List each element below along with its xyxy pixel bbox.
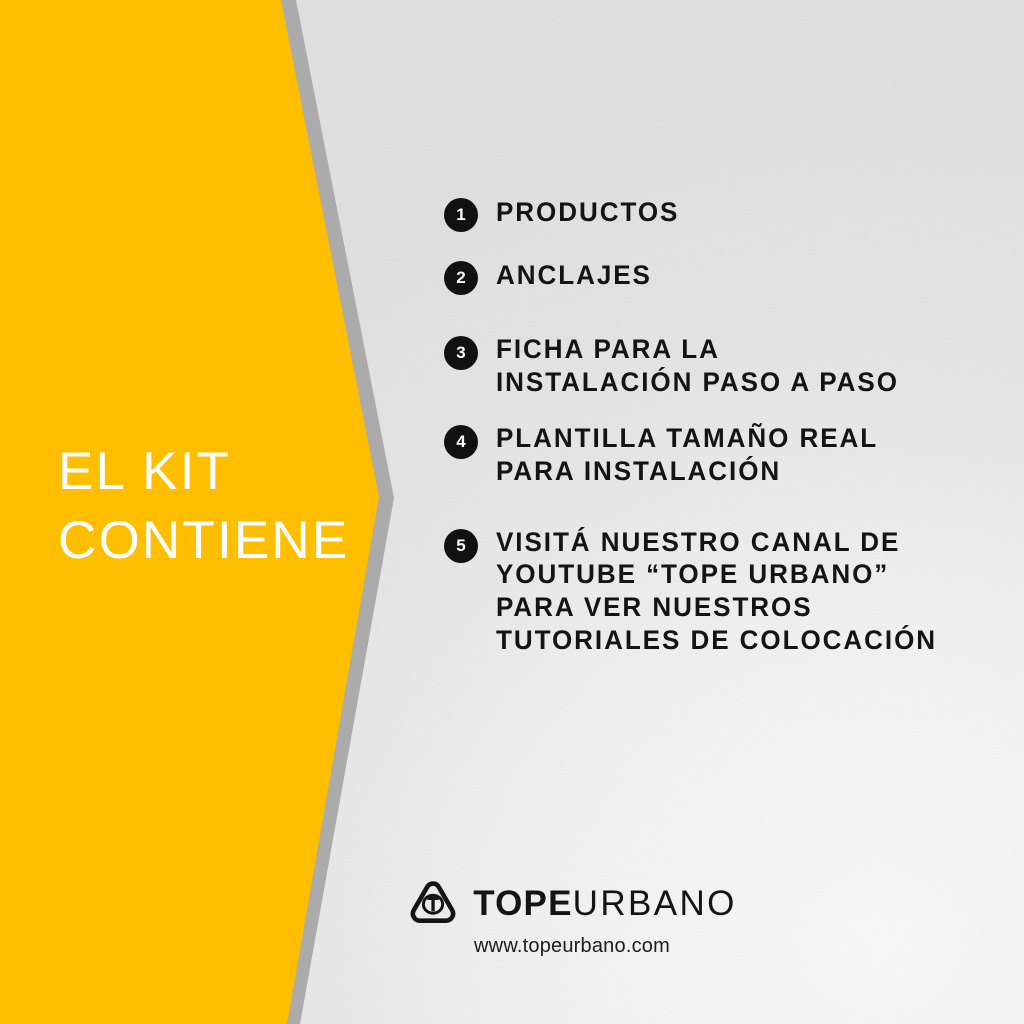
list-number-badge: 5 [444,529,478,563]
brand-footer: TOPEURBANO www.topeurbano.com [0,880,1024,958]
list-item-label: VISITÁ NUESTRO CANAL DE YOUTUBE “TOPE UR… [496,526,937,657]
list-item: 4 PLANTILLA TAMAÑO REAL PARA INSTALACIÓN [444,422,984,487]
poster-canvas: EL KIT CONTIENE 1 PRODUCTOS 2 ANCLAJES 3… [0,0,1024,1024]
website-url: www.topeurbano.com [474,935,670,958]
logo-lockup: TOPEURBANO [407,880,737,926]
list-item: 2 ANCLAJES [444,259,984,295]
list-item-label: ANCLAJES [496,259,652,292]
list-number-badge: 3 [444,336,478,370]
kit-contents-list: 1 PRODUCTOS 2 ANCLAJES 3 FICHA PARA LA I… [444,196,984,656]
list-number-badge: 4 [444,425,478,459]
brand-wordmark: TOPEURBANO [473,886,737,921]
list-item-label: PLANTILLA TAMAÑO REAL PARA INSTALACIÓN [496,422,878,487]
list-item: 3 FICHA PARA LA INSTALACIÓN PASO A PASO [444,333,984,398]
list-item-label: PRODUCTOS [496,196,679,229]
list-item: 5 VISITÁ NUESTRO CANAL DE YOUTUBE “TOPE … [444,526,984,657]
list-number-badge: 1 [444,198,478,232]
page-title: EL KIT CONTIENE [58,437,388,576]
list-item: 1 PRODUCTOS [444,196,984,232]
wordmark-tope: TOPE [473,884,572,923]
tope-urbano-triangle-t-icon [407,880,459,926]
list-number-badge: 2 [444,261,478,295]
list-item-label: FICHA PARA LA INSTALACIÓN PASO A PASO [496,333,899,398]
wordmark-urbano: URBANO [573,884,737,923]
